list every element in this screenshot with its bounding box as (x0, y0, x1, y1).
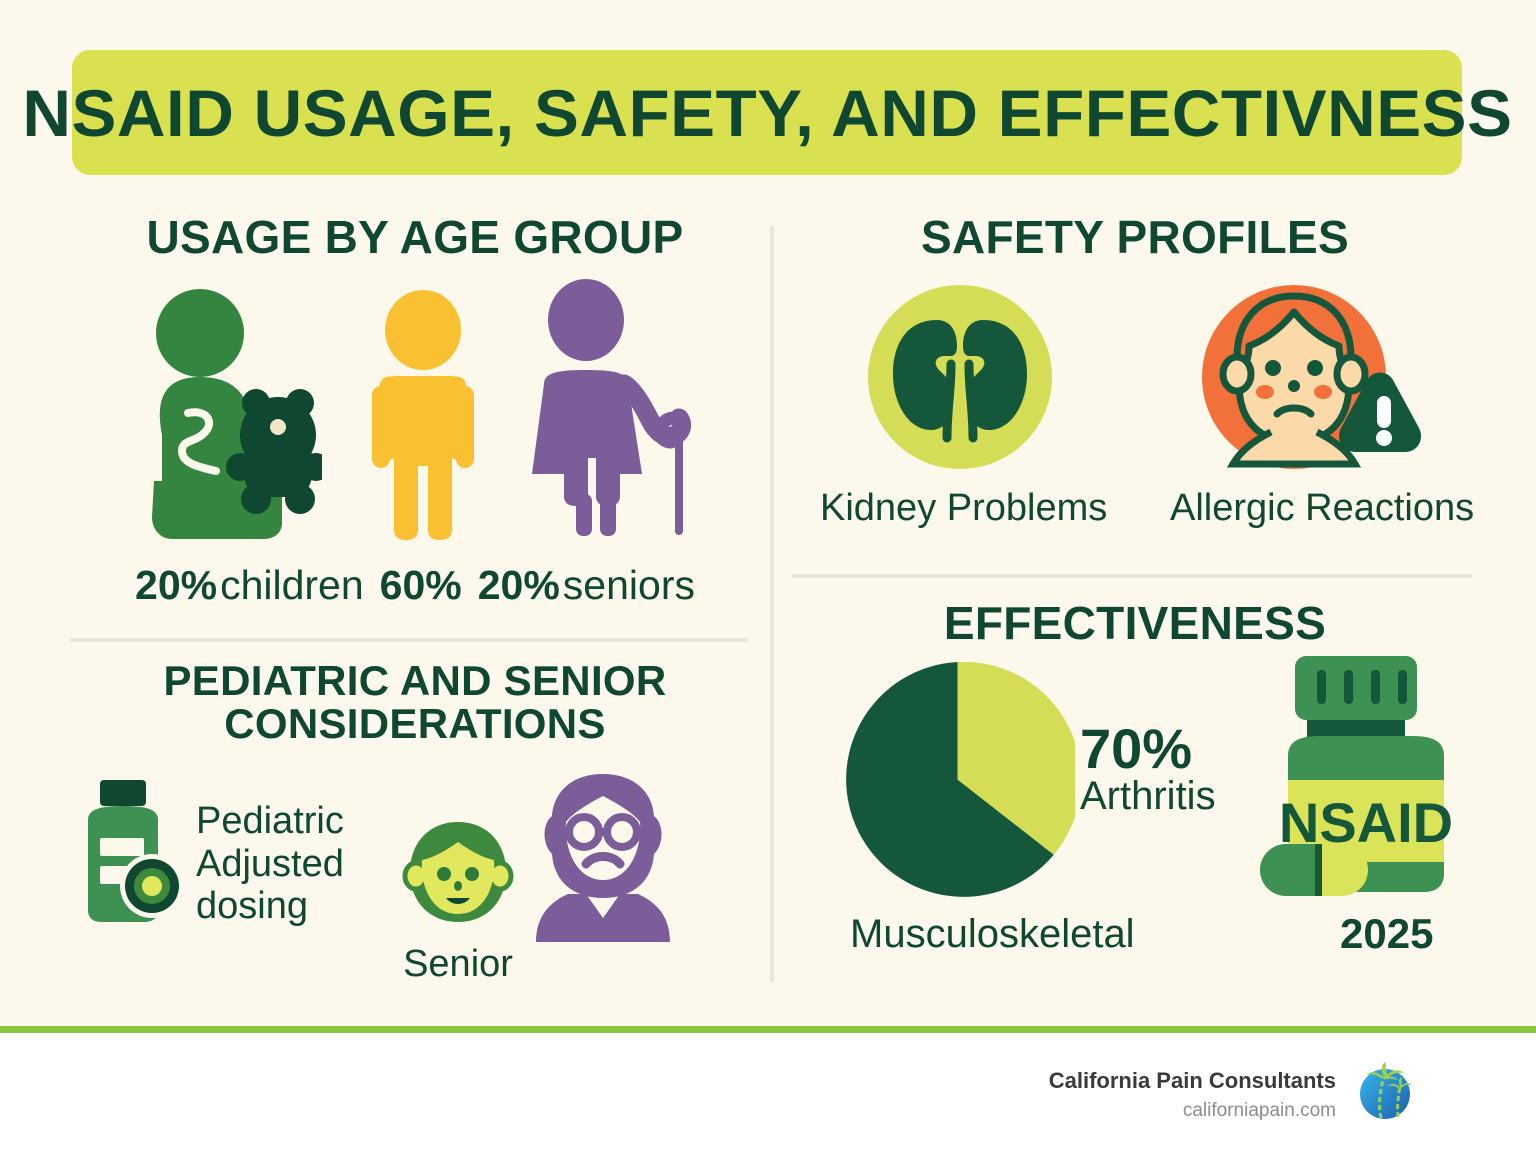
section-usage-by-age-group: USAGE BY AGE GROUP (70, 210, 760, 625)
pediatric-text-line2: Adjusted (196, 843, 376, 886)
right-horizontal-divider (792, 574, 1472, 578)
allergic-face-warning-icon (1170, 282, 1450, 477)
usage-percent-children: 20% (135, 562, 217, 609)
senior-face-icon (528, 770, 678, 950)
kidney-icon (820, 282, 1100, 477)
infographic-canvas: NSAID USAGE, SAFETY, AND EFFECTIVNESS US… (0, 0, 1536, 1026)
accent-bar (0, 1026, 1536, 1033)
left-horizontal-divider (70, 638, 748, 642)
section-safety-profiles: SAFETY PROFILES Kidney Problems (790, 210, 1480, 560)
footer: California Pain Consultants californiapa… (0, 1033, 1536, 1154)
effectiveness-pie-bottom-label: Musculoskeletal (850, 912, 1135, 957)
senior-with-cane-icon (524, 278, 699, 545)
usage-figure-row (70, 280, 760, 545)
section-pediatric-senior-considerations: PEDIATRIC AND SENIOR CONSIDERATIONS Ped (70, 660, 760, 980)
pediatric-content-row: Pediatric Adjusted dosing (70, 780, 770, 980)
section-effectiveness: EFFECTIVENESS 70% Arthritis (790, 600, 1480, 990)
usage-stat-seniors: 20% seniors (478, 562, 695, 609)
usage-stat-children: 20% children (135, 562, 364, 609)
footer-text-group: California Pain Consultants californiapa… (1049, 1068, 1336, 1122)
effectiveness-body: 70% Arthritis (790, 662, 1490, 912)
usage-percent-seniors: 20% (478, 562, 560, 609)
footer-branding: California Pain Consultants californiapa… (1049, 1061, 1416, 1128)
pediatric-text-line3: dosing (196, 885, 376, 928)
vertical-divider (770, 226, 774, 982)
usage-stat-adults: 60% (380, 562, 462, 609)
pediatric-dosing-text: Pediatric Adjusted dosing (196, 800, 376, 928)
footer-website-url[interactable]: californiapain.com (1049, 1100, 1336, 1122)
page-title: NSAID USAGE, SAFETY, AND EFFECTIVNESS (22, 75, 1512, 151)
footer-company-name: California Pain Consultants (1049, 1068, 1336, 1094)
safety-item-kidney: Kidney Problems (820, 282, 1100, 530)
nsaid-bottle-icon: NSAID (1260, 652, 1475, 907)
usage-section-heading: USAGE BY AGE GROUP (70, 214, 760, 261)
safety-items-row: Kidney Problems (790, 282, 1480, 530)
pediatric-section-heading: PEDIATRIC AND SENIOR CONSIDERATIONS (105, 660, 725, 746)
effectiveness-pie-callout: 70% Arthritis (1080, 722, 1216, 817)
child-with-teddy-icon (132, 285, 322, 545)
effectiveness-pie-chart (840, 662, 1075, 902)
pediatric-heading-line2: CONSIDERATIONS (105, 703, 725, 746)
palm-globe-logo-icon (1354, 1061, 1416, 1128)
effectiveness-year: 2025 (1340, 910, 1433, 958)
adult-person-icon (358, 290, 488, 545)
effectiveness-section-heading: EFFECTIVENESS (790, 600, 1480, 647)
safety-caption-kidney: Kidney Problems (820, 487, 1100, 530)
safety-caption-allergic: Allergic Reactions (1170, 487, 1450, 530)
effectiveness-pie-category: Arthritis (1080, 775, 1216, 817)
medicine-bottle-icon (78, 780, 188, 930)
safety-section-heading: SAFETY PROFILES (790, 214, 1480, 261)
safety-item-allergic: Allergic Reactions (1170, 282, 1450, 530)
pediatric-heading-line1: PEDIATRIC AND SENIOR (105, 660, 725, 703)
pediatric-text-line1: Pediatric (196, 800, 376, 843)
usage-label-seniors: seniors (563, 562, 695, 609)
child-face-group: Senior (402, 818, 514, 986)
effectiveness-pie-percent: 70% (1080, 722, 1216, 775)
usage-percent-adults: 60% (380, 562, 462, 609)
senior-caption: Senior (402, 943, 514, 986)
usage-stat-row: 20% children 60% 20% seniors (70, 562, 760, 609)
child-face-icon (402, 818, 514, 935)
usage-label-children: children (220, 562, 364, 609)
title-banner: NSAID USAGE, SAFETY, AND EFFECTIVNESS (72, 50, 1462, 175)
